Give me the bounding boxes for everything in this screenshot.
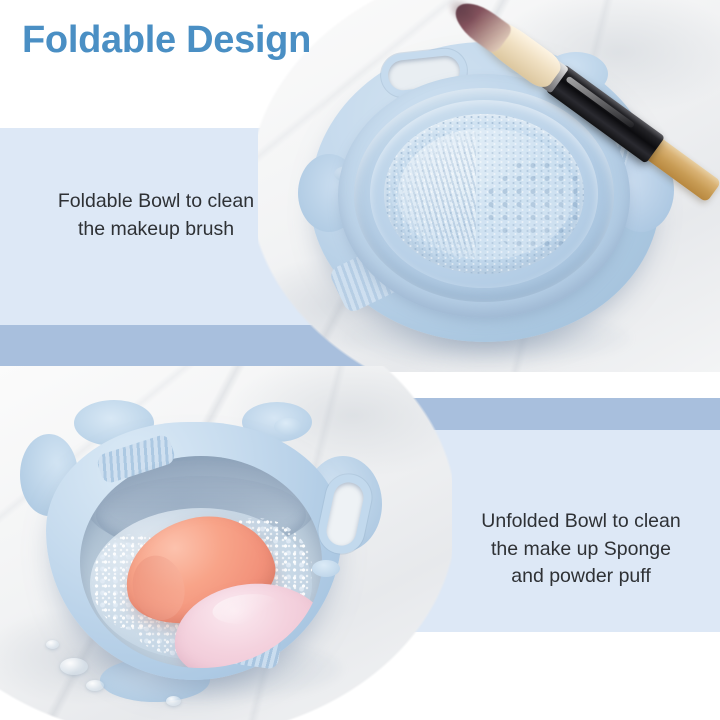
bowl-nub-top	[274, 418, 302, 435]
bowl-interior	[80, 456, 322, 668]
caption-line: Unfolded Bowl to clean	[452, 508, 710, 536]
infographic-canvas: Foldable Design	[0, 0, 720, 720]
page-title: Foldable Design	[22, 19, 311, 62]
caption-line: the make up Sponge	[452, 536, 710, 564]
caption-line: Foldable Bowl to clean	[26, 188, 286, 216]
unfolded-bowl	[38, 404, 356, 694]
unfolded-bowl-with-sponges-photo	[0, 366, 452, 720]
caption-line: and powder puff	[452, 563, 710, 591]
water-droplet	[60, 658, 88, 675]
bowl-nub-right	[312, 560, 340, 577]
water-droplet	[86, 680, 104, 691]
caption-line: the makeup brush	[26, 216, 286, 244]
water-droplet	[166, 696, 181, 706]
caption-unfolded-bowl: Unfolded Bowl to clean the make up Spong…	[452, 508, 710, 591]
caption-foldable-bowl: Foldable Bowl to clean the makeup brush	[26, 188, 286, 243]
water-droplet	[46, 640, 59, 649]
folded-bowl-with-brush-photo	[258, 0, 720, 372]
bowl-body	[46, 422, 342, 680]
